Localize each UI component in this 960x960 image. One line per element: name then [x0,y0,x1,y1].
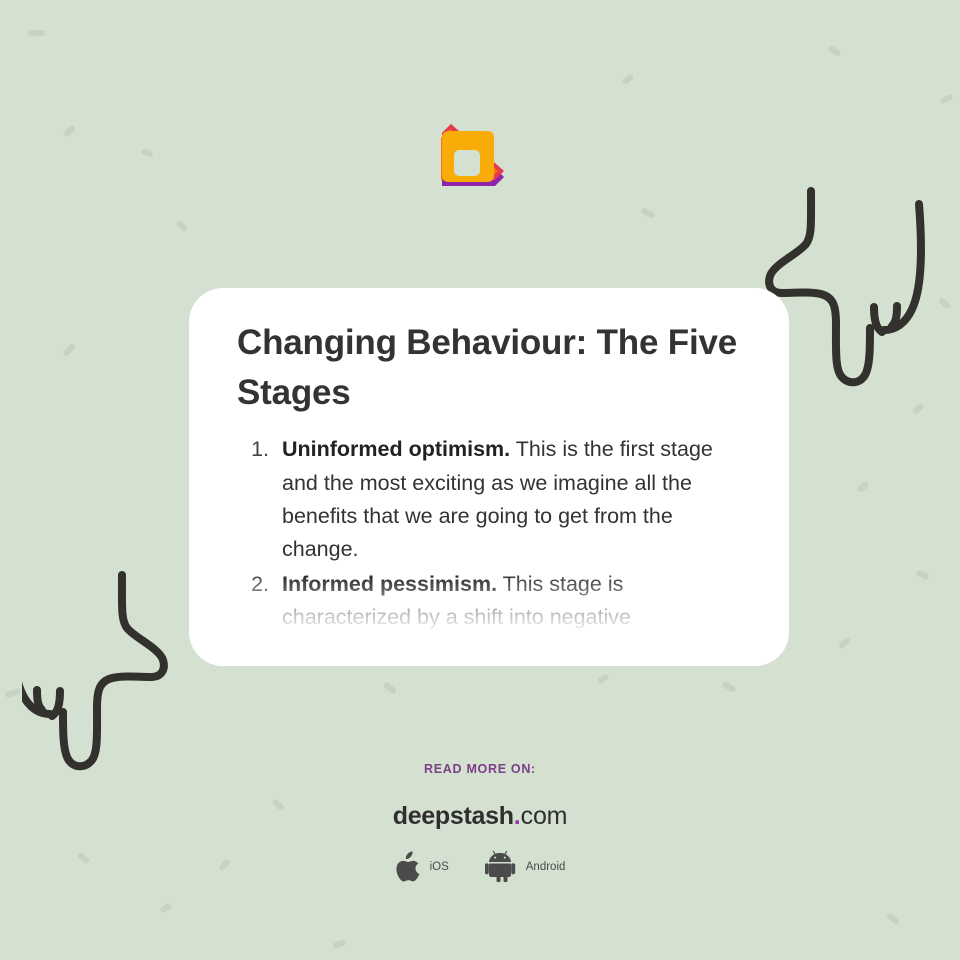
ios-store-link[interactable]: iOS [395,851,449,882]
content-card: Changing Behaviour: The Five Stages Unin… [189,288,789,666]
speck [857,481,870,493]
speck [939,93,953,104]
speck [915,569,929,580]
speck [722,681,737,694]
speck [596,673,609,685]
brand-wordmark[interactable]: deepstash.com [0,804,960,829]
brand-dot: . [514,802,521,830]
brand-name: deepstash [393,802,514,830]
android-label: Android [526,861,566,873]
speck [911,403,924,415]
speck [62,343,76,357]
speck [938,297,952,310]
speck [838,637,852,650]
ios-label: iOS [430,861,449,873]
speck [332,939,346,949]
android-icon [485,851,517,882]
card-content: Changing Behaviour: The Five Stages Unin… [189,288,789,635]
speck [827,45,841,57]
apple-icon [395,851,421,882]
list-item-lead: Uninformed optimism. [282,437,510,461]
page-title: Changing Behaviour: The Five Stages [237,318,737,417]
poster-canvas: Changing Behaviour: The Five Stages Unin… [0,0,960,960]
speck [640,207,655,219]
speck [63,124,77,137]
list-item: Uninformed optimism. This is the first s… [275,433,741,566]
speck [886,912,901,926]
android-store-link[interactable]: Android [485,851,566,882]
read-more-label: READ MORE ON: [0,762,960,776]
list-item-lead: Informed pessimism. [282,572,497,596]
list-item: Informed pessimism. This stage is charac… [275,568,741,635]
stages-list: Uninformed optimism. This is the first s… [237,433,741,634]
speck [140,148,153,158]
speck [4,688,21,699]
speck [621,73,634,85]
deepstash-logo [430,104,522,196]
speck [28,30,45,36]
footer: READ MORE ON: deepstash.com iOS [0,762,960,882]
speck [176,220,189,233]
speck [159,902,172,913]
speck [383,681,398,695]
brand-tld: com [521,802,568,830]
app-store-links: iOS Android [0,851,960,882]
